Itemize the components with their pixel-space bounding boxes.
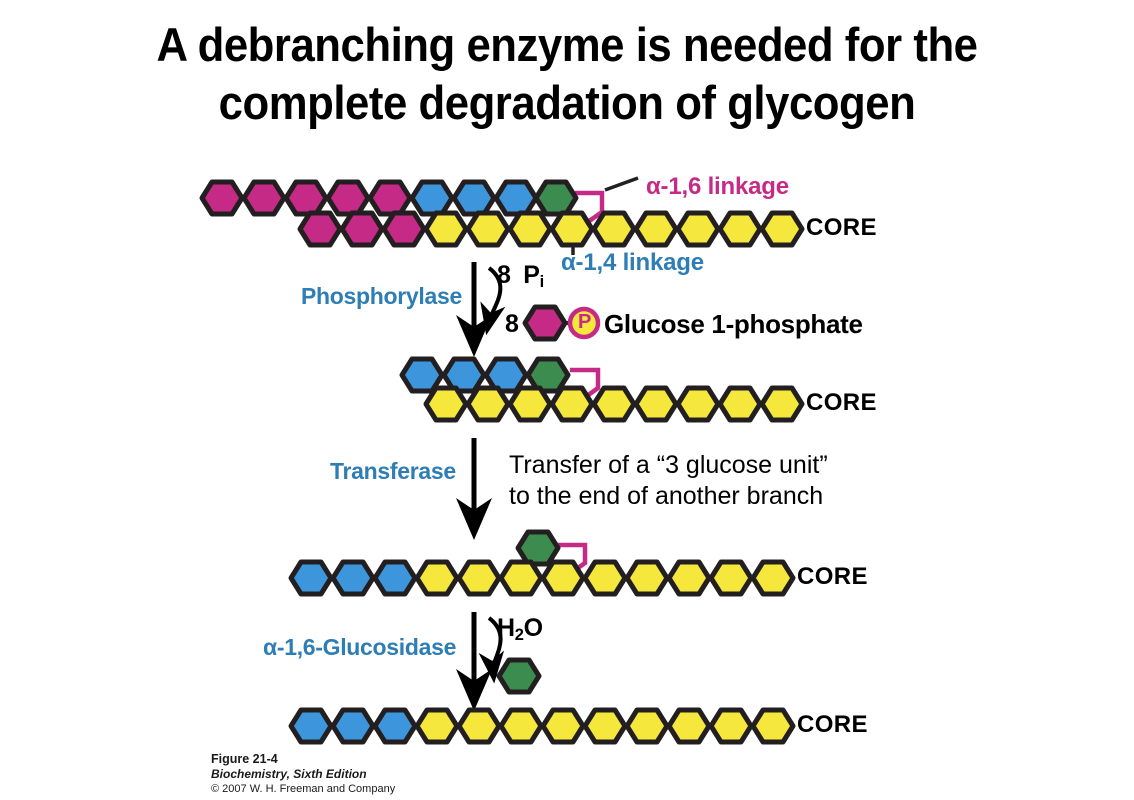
core-label-structure-2: CORE <box>806 389 877 417</box>
structure-4 <box>291 710 793 742</box>
enzyme-label-transferase: Transferase <box>330 458 456 485</box>
core-label-structure-3: CORE <box>797 563 868 591</box>
caption-source: Biochemistry, Sixth Edition <box>211 767 395 782</box>
structure-1-main-row <box>300 213 802 245</box>
transferase-note: Transfer of a “3 glucose unit” to the en… <box>509 450 828 512</box>
reactant-water: H2O <box>497 614 543 643</box>
diagram-canvas <box>0 0 1134 800</box>
reactant-8-pi-subscript: i <box>540 273 544 291</box>
reactant-8-pi-symbol: P <box>523 261 539 289</box>
caption-copyright: © 2007 W. H. Freeman and Company <box>211 782 395 797</box>
alpha-1-6-linkage-label: α-1,6 linkage <box>646 173 789 201</box>
reactant-water-symbol: H <box>497 614 515 642</box>
transferase-note-line-1: Transfer of a “3 glucose unit” <box>509 450 828 481</box>
reactant-water-subscript: 2 <box>515 626 524 644</box>
caption-figure-number: Figure 21-4 <box>211 752 395 767</box>
core-label-structure-1: CORE <box>806 214 877 242</box>
alpha-1-4-linkage-label: α-1,4 linkage <box>561 249 704 277</box>
alpha-1-6-leader-line <box>605 178 638 190</box>
structure-4-main-row <box>291 710 793 742</box>
product-count-8: 8 <box>505 310 519 339</box>
structure-3-main-row <box>291 562 793 594</box>
structure-2 <box>402 359 802 420</box>
structure-3-branch-row <box>518 532 558 564</box>
structure-2-main-row <box>426 388 802 420</box>
product-label-glucose-1-phosphate: Glucose 1-phosphate <box>604 309 863 340</box>
transferase-note-line-2: to the end of another branch <box>509 481 828 512</box>
enzyme-label-alpha-1-6-glucosidase: α-1,6-Glucosidase <box>263 634 456 661</box>
figure-caption: Figure 21-4 Biochemistry, Sixth Edition … <box>211 752 395 797</box>
released-glucose-unit <box>499 660 539 692</box>
reactant-water-tail: O <box>524 614 543 642</box>
reactant-8-pi-count: 8 <box>497 261 511 289</box>
glycogen-degradation-diagram: α-1,6 linkage α-1,4 linkage CORE CORE CO… <box>0 0 1134 800</box>
structure-3 <box>291 532 793 594</box>
enzyme-label-phosphorylase: Phosphorylase <box>301 283 462 310</box>
core-label-structure-4: CORE <box>797 711 868 739</box>
reactant-8-pi: 8 Pi <box>497 261 544 290</box>
structure-1-branch-row <box>202 182 576 214</box>
phosphate-glyph-letter: P <box>576 311 593 334</box>
